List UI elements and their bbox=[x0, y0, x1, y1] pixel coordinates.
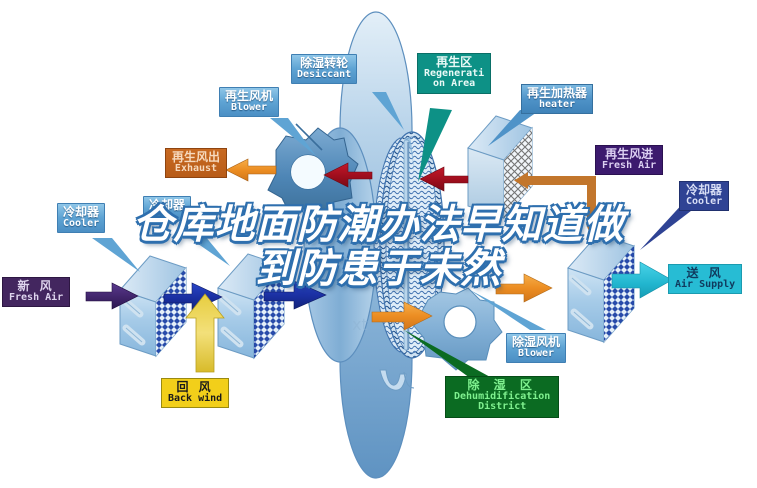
label-regeneration-blower: 再生风机 Blower bbox=[219, 87, 279, 117]
cooling-coil-left-2 bbox=[218, 254, 284, 358]
label-cooler-left-2: 冷却器 bbox=[143, 196, 191, 221]
svg-text:xt: xt bbox=[352, 315, 368, 334]
regeneration-heater bbox=[468, 116, 532, 218]
label-regeneration-heater: 再生加热器 heater bbox=[521, 84, 593, 114]
dry-air-arrow-2 bbox=[496, 274, 552, 302]
schematic-illustration: xt bbox=[0, 0, 757, 488]
exhaust-arrow bbox=[226, 159, 276, 181]
label-fresh-air-left: 新 风 Fresh Air bbox=[2, 277, 70, 307]
label-regeneration-area: 再生区 Regenerati on Area bbox=[417, 53, 491, 94]
label-dehumidification-blower: 除湿风机 Blower bbox=[506, 333, 566, 363]
label-air-supply: 送 风 Air Supply bbox=[668, 264, 742, 294]
label-cooler-right: 冷却器 Cooler bbox=[679, 181, 729, 211]
diagram-canvas: xt bbox=[0, 0, 757, 488]
label-regeneration-fresh-air: 再生风进 Fresh Air bbox=[595, 145, 663, 175]
label-desiccant-rotor: 除湿转轮 Desiccant bbox=[291, 54, 357, 84]
label-back-wind: 回 风 Back wind bbox=[161, 378, 229, 408]
label-cooler-left-1: 冷却器 Cooler bbox=[57, 203, 105, 233]
regen-intake-arrow bbox=[514, 172, 597, 238]
label-exhaust: 再生风出 Exhaust bbox=[165, 148, 227, 178]
cooling-coil-left-1 bbox=[120, 256, 186, 356]
label-dehumidification-district: 除 湿 区 Dehumidification District bbox=[445, 376, 559, 418]
